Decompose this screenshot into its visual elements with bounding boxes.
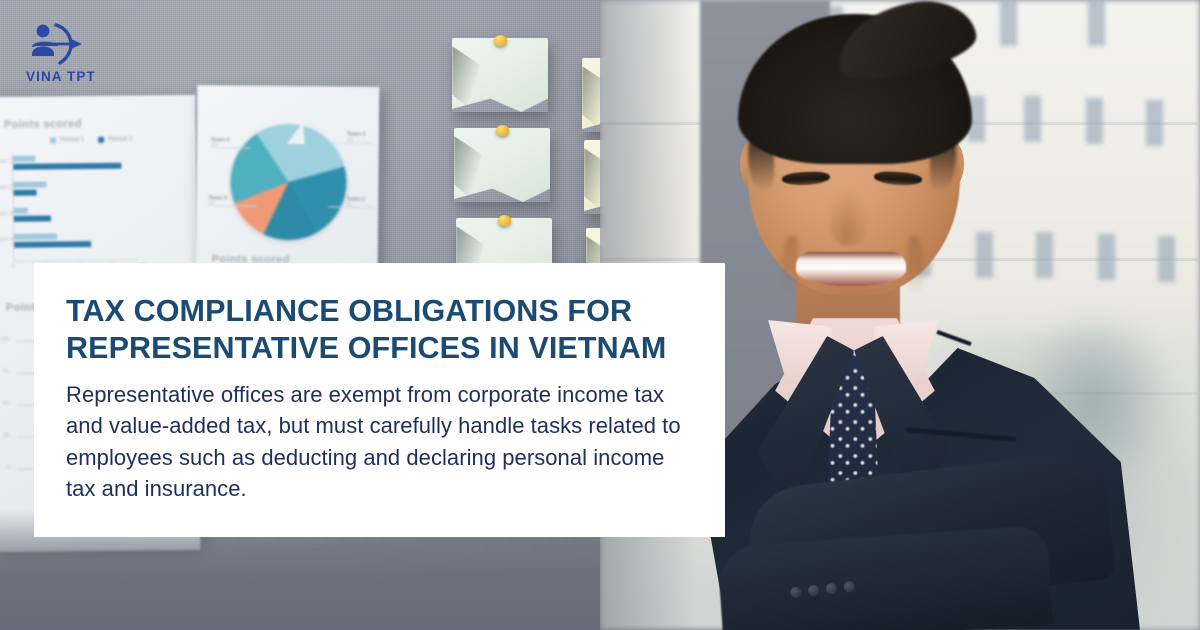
brand-logo[interactable]: VINA TPT xyxy=(16,22,136,84)
chart-1-bar xyxy=(14,190,37,196)
chart-1-bar xyxy=(14,233,57,239)
chart-1-x-axis xyxy=(13,260,137,262)
chart-1-cat-1: Team 1 xyxy=(0,159,12,165)
poster-canvas: Points scored Period 1 Period 2 Team 1 T… xyxy=(0,0,1200,630)
chart-1-bar xyxy=(14,181,47,187)
chart-1-cat-4: Team 4 xyxy=(0,237,13,243)
pie-label-team4: Team 422 xyxy=(211,137,230,149)
chart-2-tick: 25 xyxy=(3,433,9,439)
chart-1-bar xyxy=(13,163,121,170)
content-card: TAX COMPLIANCE OBLIGATIONS FOR REPRESENT… xyxy=(34,263,725,537)
chart-1-cat-2: Team 2 xyxy=(0,185,13,191)
chart-2-tick: 50 xyxy=(3,401,9,407)
pie-label-team3: Team 312 xyxy=(208,195,227,207)
pie-label-team2: Team 221 xyxy=(346,197,365,209)
archer-bow-icon xyxy=(26,22,88,66)
page-description: Representative offices are exempt from c… xyxy=(66,379,689,504)
chart-title-1: Points scored xyxy=(4,118,82,131)
chart-2-tick: 75 xyxy=(2,369,8,375)
page-title: TAX COMPLIANCE OBLIGATIONS FOR REPRESENT… xyxy=(66,293,689,366)
chart-1-cat-3: Team 3 xyxy=(0,211,13,217)
chart-1-bar xyxy=(14,241,91,248)
pie-chart-notch xyxy=(287,122,305,144)
pushpin-icon xyxy=(498,215,511,226)
legend-item-period2: Period 2 xyxy=(98,136,132,143)
chart-2-tick: 0 xyxy=(6,465,9,471)
brand-name: VINA TPT xyxy=(16,69,136,84)
chart-1-tick: 0 xyxy=(11,264,14,270)
chart-1-bar xyxy=(14,215,51,221)
sticky-note xyxy=(452,38,548,112)
pie-label-team1: Team 121 xyxy=(347,132,366,144)
legend-item-period1: Period 1 xyxy=(50,136,84,143)
chart-legend-1: Period 1 Period 2 xyxy=(50,136,133,144)
pushpin-icon xyxy=(494,35,507,46)
chart-2-tick: 100 xyxy=(0,337,9,343)
pushpin-icon xyxy=(496,125,509,136)
sticky-note xyxy=(454,128,550,202)
chart-1-bar xyxy=(13,156,35,162)
chart-1-bar xyxy=(14,208,28,214)
